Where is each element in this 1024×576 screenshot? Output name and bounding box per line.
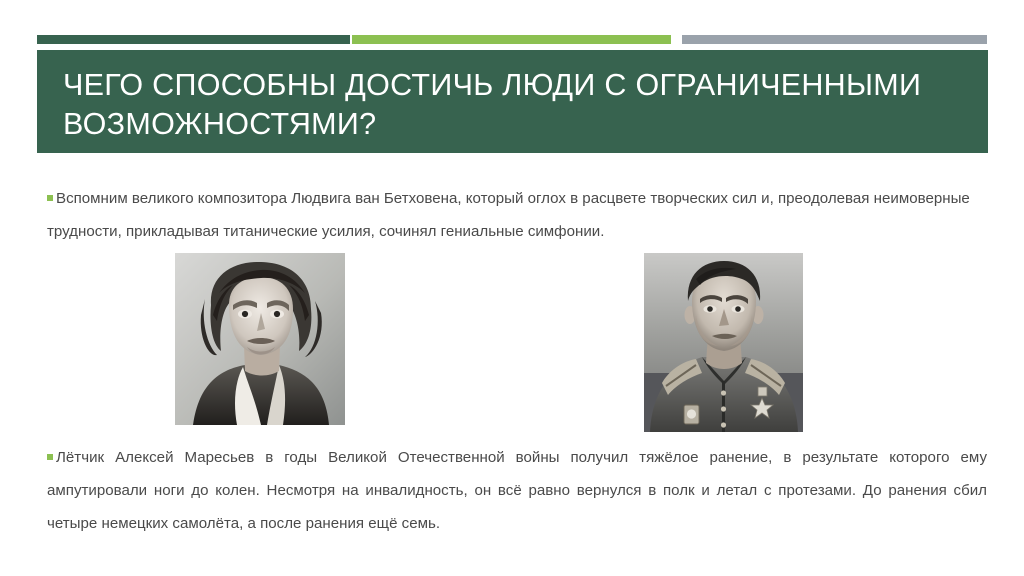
square-bullet-icon bbox=[47, 454, 53, 460]
top-rule-green bbox=[352, 35, 671, 44]
beethoven-portrait-image bbox=[175, 253, 345, 425]
paragraph-beethoven: Вспомним великого композитора Людвига ва… bbox=[47, 182, 987, 248]
top-rule-dark bbox=[37, 35, 350, 44]
maresyev-portrait-image bbox=[644, 253, 803, 432]
presentation-slide: ЧЕГО СПОСОБНЫ ДОСТИЧЬ ЛЮДИ С ОГРАНИЧЕННЫ… bbox=[0, 0, 1024, 576]
paragraph-maresyev: Лётчик Алексей Маресьев в годы Великой О… bbox=[47, 441, 987, 540]
paragraph-beethoven-text: Вспомним великого композитора Людвига ва… bbox=[47, 190, 970, 240]
paragraph-maresyev-text: Лётчик Алексей Маресьев в годы Великой О… bbox=[47, 449, 987, 532]
slide-title: ЧЕГО СПОСОБНЫ ДОСТИЧЬ ЛЮДИ С ОГРАНИЧЕННЫ… bbox=[63, 66, 962, 144]
square-bullet-icon bbox=[47, 195, 53, 201]
title-banner: ЧЕГО СПОСОБНЫ ДОСТИЧЬ ЛЮДИ С ОГРАНИЧЕННЫ… bbox=[37, 50, 988, 153]
top-rule-gray bbox=[682, 35, 987, 44]
